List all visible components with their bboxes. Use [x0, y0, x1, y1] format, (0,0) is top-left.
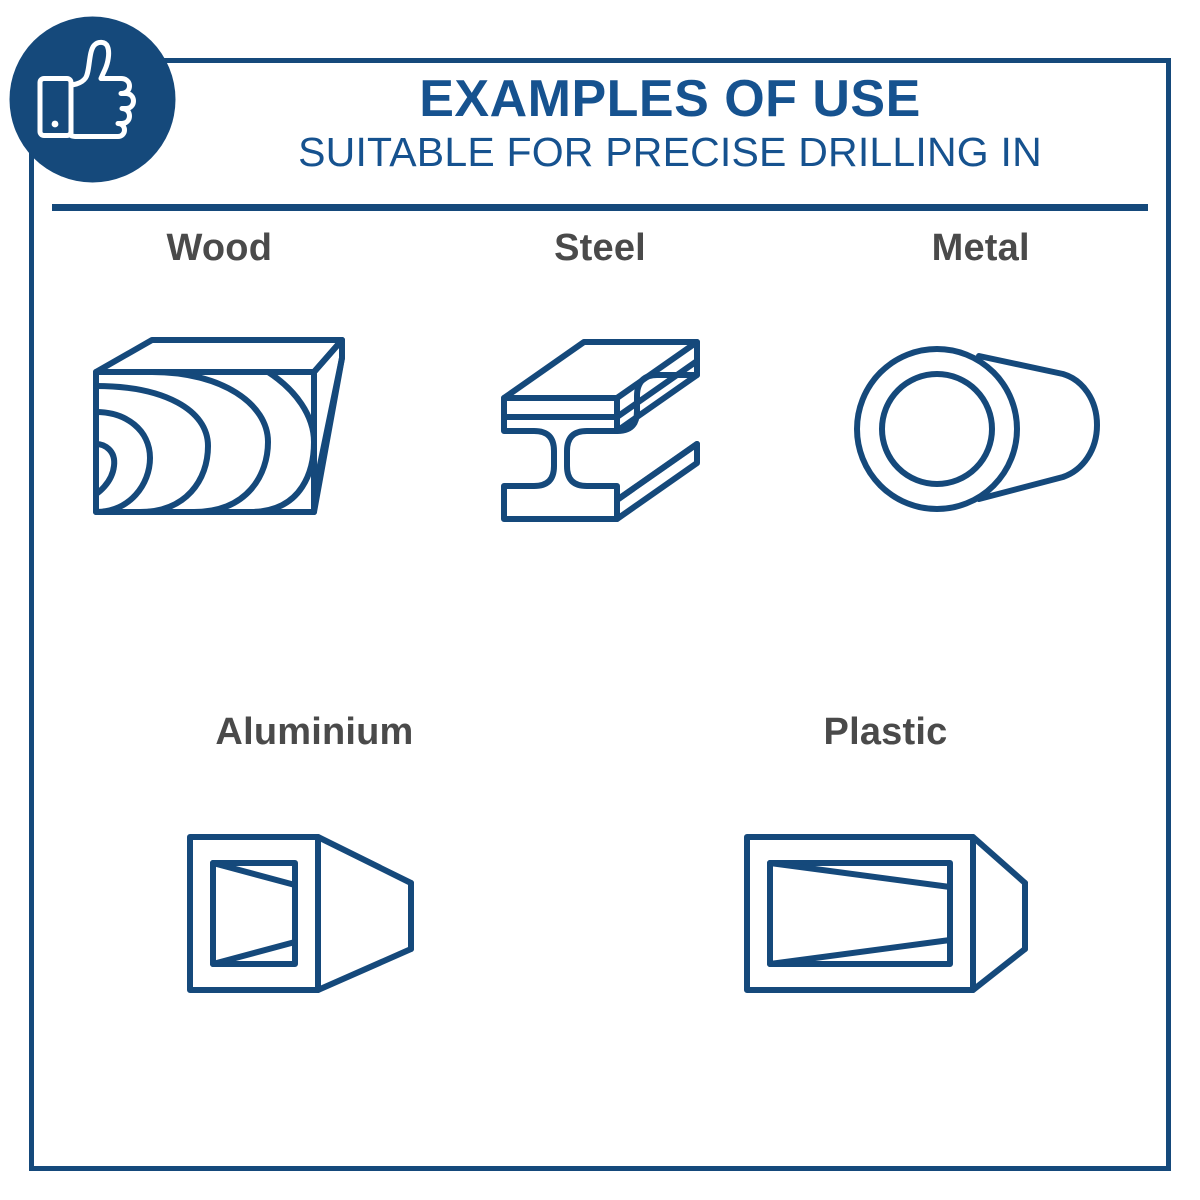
material-illustration-aluminium — [184, 806, 446, 1021]
material-illustration-metal — [851, 324, 1111, 539]
materials-row-1: Wood — [29, 228, 1171, 539]
material-illustration-plastic — [741, 806, 1031, 1021]
plastic-rect-tube-icon — [741, 831, 1031, 996]
material-cell-steel: Steel — [410, 228, 791, 539]
thumbs-up-icon — [9, 16, 176, 183]
page-title: EXAMPLES OF USE — [180, 72, 1160, 126]
thumbs-up-badge — [9, 16, 176, 183]
material-cell-wood: Wood — [29, 228, 410, 539]
material-illustration-steel — [498, 324, 703, 539]
metal-pipe-icon — [851, 334, 1111, 529]
material-label-aluminium: Aluminium — [215, 712, 413, 754]
steel-ibeam-icon — [498, 336, 703, 526]
material-cell-aluminium: Aluminium — [29, 712, 600, 1021]
header-block: EXAMPLES OF USE SUITABLE FOR PRECISE DRI… — [180, 72, 1160, 176]
infographic-page: EXAMPLES OF USE SUITABLE FOR PRECISE DRI… — [0, 0, 1200, 1200]
materials-row-2: Aluminium — [29, 712, 1171, 1021]
material-illustration-wood — [90, 324, 348, 539]
aluminium-square-tube-icon — [184, 831, 446, 996]
material-label-metal: Metal — [932, 228, 1030, 270]
page-subtitle: SUITABLE FOR PRECISE DRILLING IN — [180, 128, 1160, 176]
material-label-wood: Wood — [167, 228, 273, 270]
material-cell-metal: Metal — [790, 228, 1171, 539]
header-divider — [52, 204, 1148, 211]
wood-block-icon — [90, 334, 348, 529]
material-label-plastic: Plastic — [824, 712, 948, 754]
material-label-steel: Steel — [554, 228, 646, 270]
material-cell-plastic: Plastic — [600, 712, 1171, 1021]
